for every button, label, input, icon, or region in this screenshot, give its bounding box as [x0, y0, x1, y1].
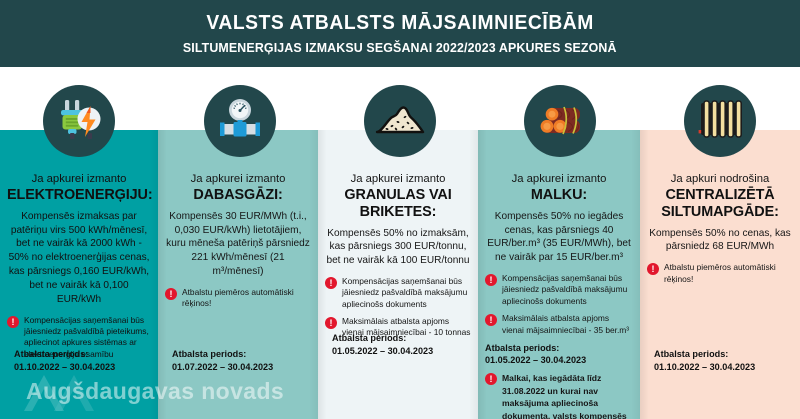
support-period-dates: 01.05.2022 – 30.04.2023	[485, 354, 633, 366]
fuel-columns: Ja apkurei izmanto ELEKTROENERĢIJU: Komp…	[0, 130, 800, 419]
support-period-label: Atbalsta periods:	[332, 332, 433, 344]
support-period-dates: 01.10.2022 – 30.04.2023	[654, 361, 755, 373]
note-item: ! Maksimālais atbalsta apjoms vienai māj…	[485, 313, 633, 336]
column-fuel-name: DABASGĀZI:	[165, 187, 311, 204]
column-fuel-name: ELEKTROENERĢIJU:	[7, 187, 151, 204]
column-pellets-briquettes: Ja apkurei izmanto GRANULAS VAI BRIKETES…	[318, 130, 478, 419]
column-lead-text: Ja apkurei izmanto	[165, 172, 311, 186]
support-period: Atbalsta periods: 01.10.2022 – 30.04.202…	[14, 348, 115, 373]
pellet-pile-icon	[374, 99, 426, 144]
radiator-icon	[696, 98, 744, 145]
support-period-label: Atbalsta periods:	[485, 342, 633, 354]
column-body-text: Kompensēs 50% no izmaksām, kas pārsniegs…	[325, 227, 471, 268]
page-subtitle: SILTUMENERĢIJAS IZMAKSU SEGŠANAI 2022/20…	[183, 40, 617, 55]
note-text: Malkai, kas iegādāta līdz 31.08.2022 un …	[502, 372, 633, 419]
alert-icon: !	[485, 314, 497, 326]
support-period-dates: 01.07.2022 – 30.04.2023	[172, 361, 273, 373]
icon-badge-pellets	[364, 85, 436, 157]
support-period-dates: 01.05.2022 – 30.04.2023	[332, 345, 433, 357]
note-item: ! Kompensācijas saņemšanai būs jāiesnied…	[485, 273, 633, 307]
page-header: VALSTS ATBALSTS MĀJSAIMNIECĪBĀM SILTUMEN…	[0, 0, 800, 67]
column-body-text: Kompensēs izmaksas par patēriņu virs 500…	[7, 210, 151, 307]
support-period-label: Atbalsta periods:	[14, 348, 115, 360]
column-notes: ! Atbalstu piemēros automātiski rēķinos!	[647, 262, 793, 285]
alert-icon: !	[485, 373, 497, 385]
alert-icon: !	[325, 277, 337, 289]
column-lead-text: Ja apkurei izmanto	[485, 172, 633, 186]
support-period: Atbalsta periods: 01.07.2022 – 30.04.202…	[172, 348, 273, 373]
support-period-dates: 01.10.2022 – 30.04.2023	[14, 361, 115, 373]
alert-icon: !	[325, 317, 337, 329]
infographic-page: VALSTS ATBALSTS MĀJSAIMNIECĪBĀM SILTUMEN…	[0, 0, 800, 419]
column-notes: ! Kompensācijas saņemšanai būs jāiesnied…	[325, 276, 471, 339]
support-period-label: Atbalsta periods:	[172, 348, 273, 360]
note-text: Kompensācijas saņemšanai būs jāiesniedz …	[502, 273, 633, 307]
icon-badge-radiator	[684, 85, 756, 157]
note-text: Kompensācijas saņemšanai būs jāiesniedz …	[342, 276, 471, 310]
support-period: Atbalsta periods: 01.05.2022 – 30.04.202…	[485, 342, 633, 367]
column-district-heating: Ja apkuri nodrošina CENTRALIZĒTĀ SILTUMA…	[640, 130, 800, 419]
note-text: Maksimālais atbalsta apjoms vienai mājsa…	[502, 313, 633, 336]
column-lead-text: Ja apkurei izmanto	[7, 172, 151, 186]
firewood-logs-icon	[534, 99, 586, 144]
column-notes: ! Kompensācijas saņemšanai būs jāiesnied…	[485, 273, 633, 336]
note-item-bold: ! Malkai, kas iegādāta līdz 31.08.2022 u…	[485, 372, 633, 419]
column-body-text: Kompensēs 50% no cenas, kas pārsniedz 68…	[647, 227, 793, 255]
column-notes-bold: ! Malkai, kas iegādāta līdz 31.08.2022 u…	[485, 372, 633, 419]
support-period: Atbalsta periods: 01.10.2022 – 30.04.202…	[654, 348, 755, 373]
column-notes: ! Atbalstu piemēros automātiski rēķinos!	[165, 287, 311, 310]
alert-icon: !	[485, 274, 497, 286]
column-natural-gas: Ja apkurei izmanto DABASGĀZI: Kompensēs …	[158, 130, 318, 419]
support-period: Atbalsta periods: 01.05.2022 – 30.04.202…	[332, 332, 433, 357]
icon-badge-electricity	[43, 85, 115, 157]
column-lead-text: Ja apkuri nodrošina	[647, 172, 793, 186]
column-body-text: Kompensēs 50% no iegādes cenas, kas pārs…	[485, 210, 633, 265]
alert-icon: !	[7, 316, 19, 328]
support-period-label: Atbalsta periods:	[654, 348, 755, 360]
note-text: Atbalstu piemēros automātiski rēķinos!	[182, 287, 311, 310]
column-fuel-name: CENTRALIZĒTĀ SILTUMAPGĀDE:	[647, 187, 793, 220]
column-lead-text: Ja apkurei izmanto	[325, 172, 471, 186]
page-title: VALSTS ATBALSTS MĀJSAIMNIECĪBĀM	[206, 12, 594, 35]
column-body-text: Kompensēs 30 EUR/MWh (t.i., 0,030 EUR/kW…	[165, 210, 311, 279]
icon-badge-gas	[204, 85, 276, 157]
plug-and-lightning-icon	[54, 97, 104, 146]
note-item: ! Kompensācijas saņemšanai būs jāiesnied…	[325, 276, 471, 310]
column-firewood: Ja apkurei izmanto MALKU: Kompensēs 50% …	[478, 130, 640, 419]
gas-meter-pipe-icon	[215, 97, 265, 146]
icon-badge-firewood	[524, 85, 596, 157]
column-fuel-name: GRANULAS VAI BRIKETES:	[325, 187, 471, 220]
note-text: Atbalstu piemēros automātiski rēķinos!	[664, 262, 793, 285]
note-item: ! Atbalstu piemēros automātiski rēķinos!	[165, 287, 311, 310]
alert-icon: !	[165, 288, 177, 300]
alert-icon: !	[647, 263, 659, 275]
column-fuel-name: MALKU:	[485, 187, 633, 204]
note-item: ! Atbalstu piemēros automātiski rēķinos!	[647, 262, 793, 285]
column-electricity: Ja apkurei izmanto ELEKTROENERĢIJU: Komp…	[0, 130, 158, 419]
